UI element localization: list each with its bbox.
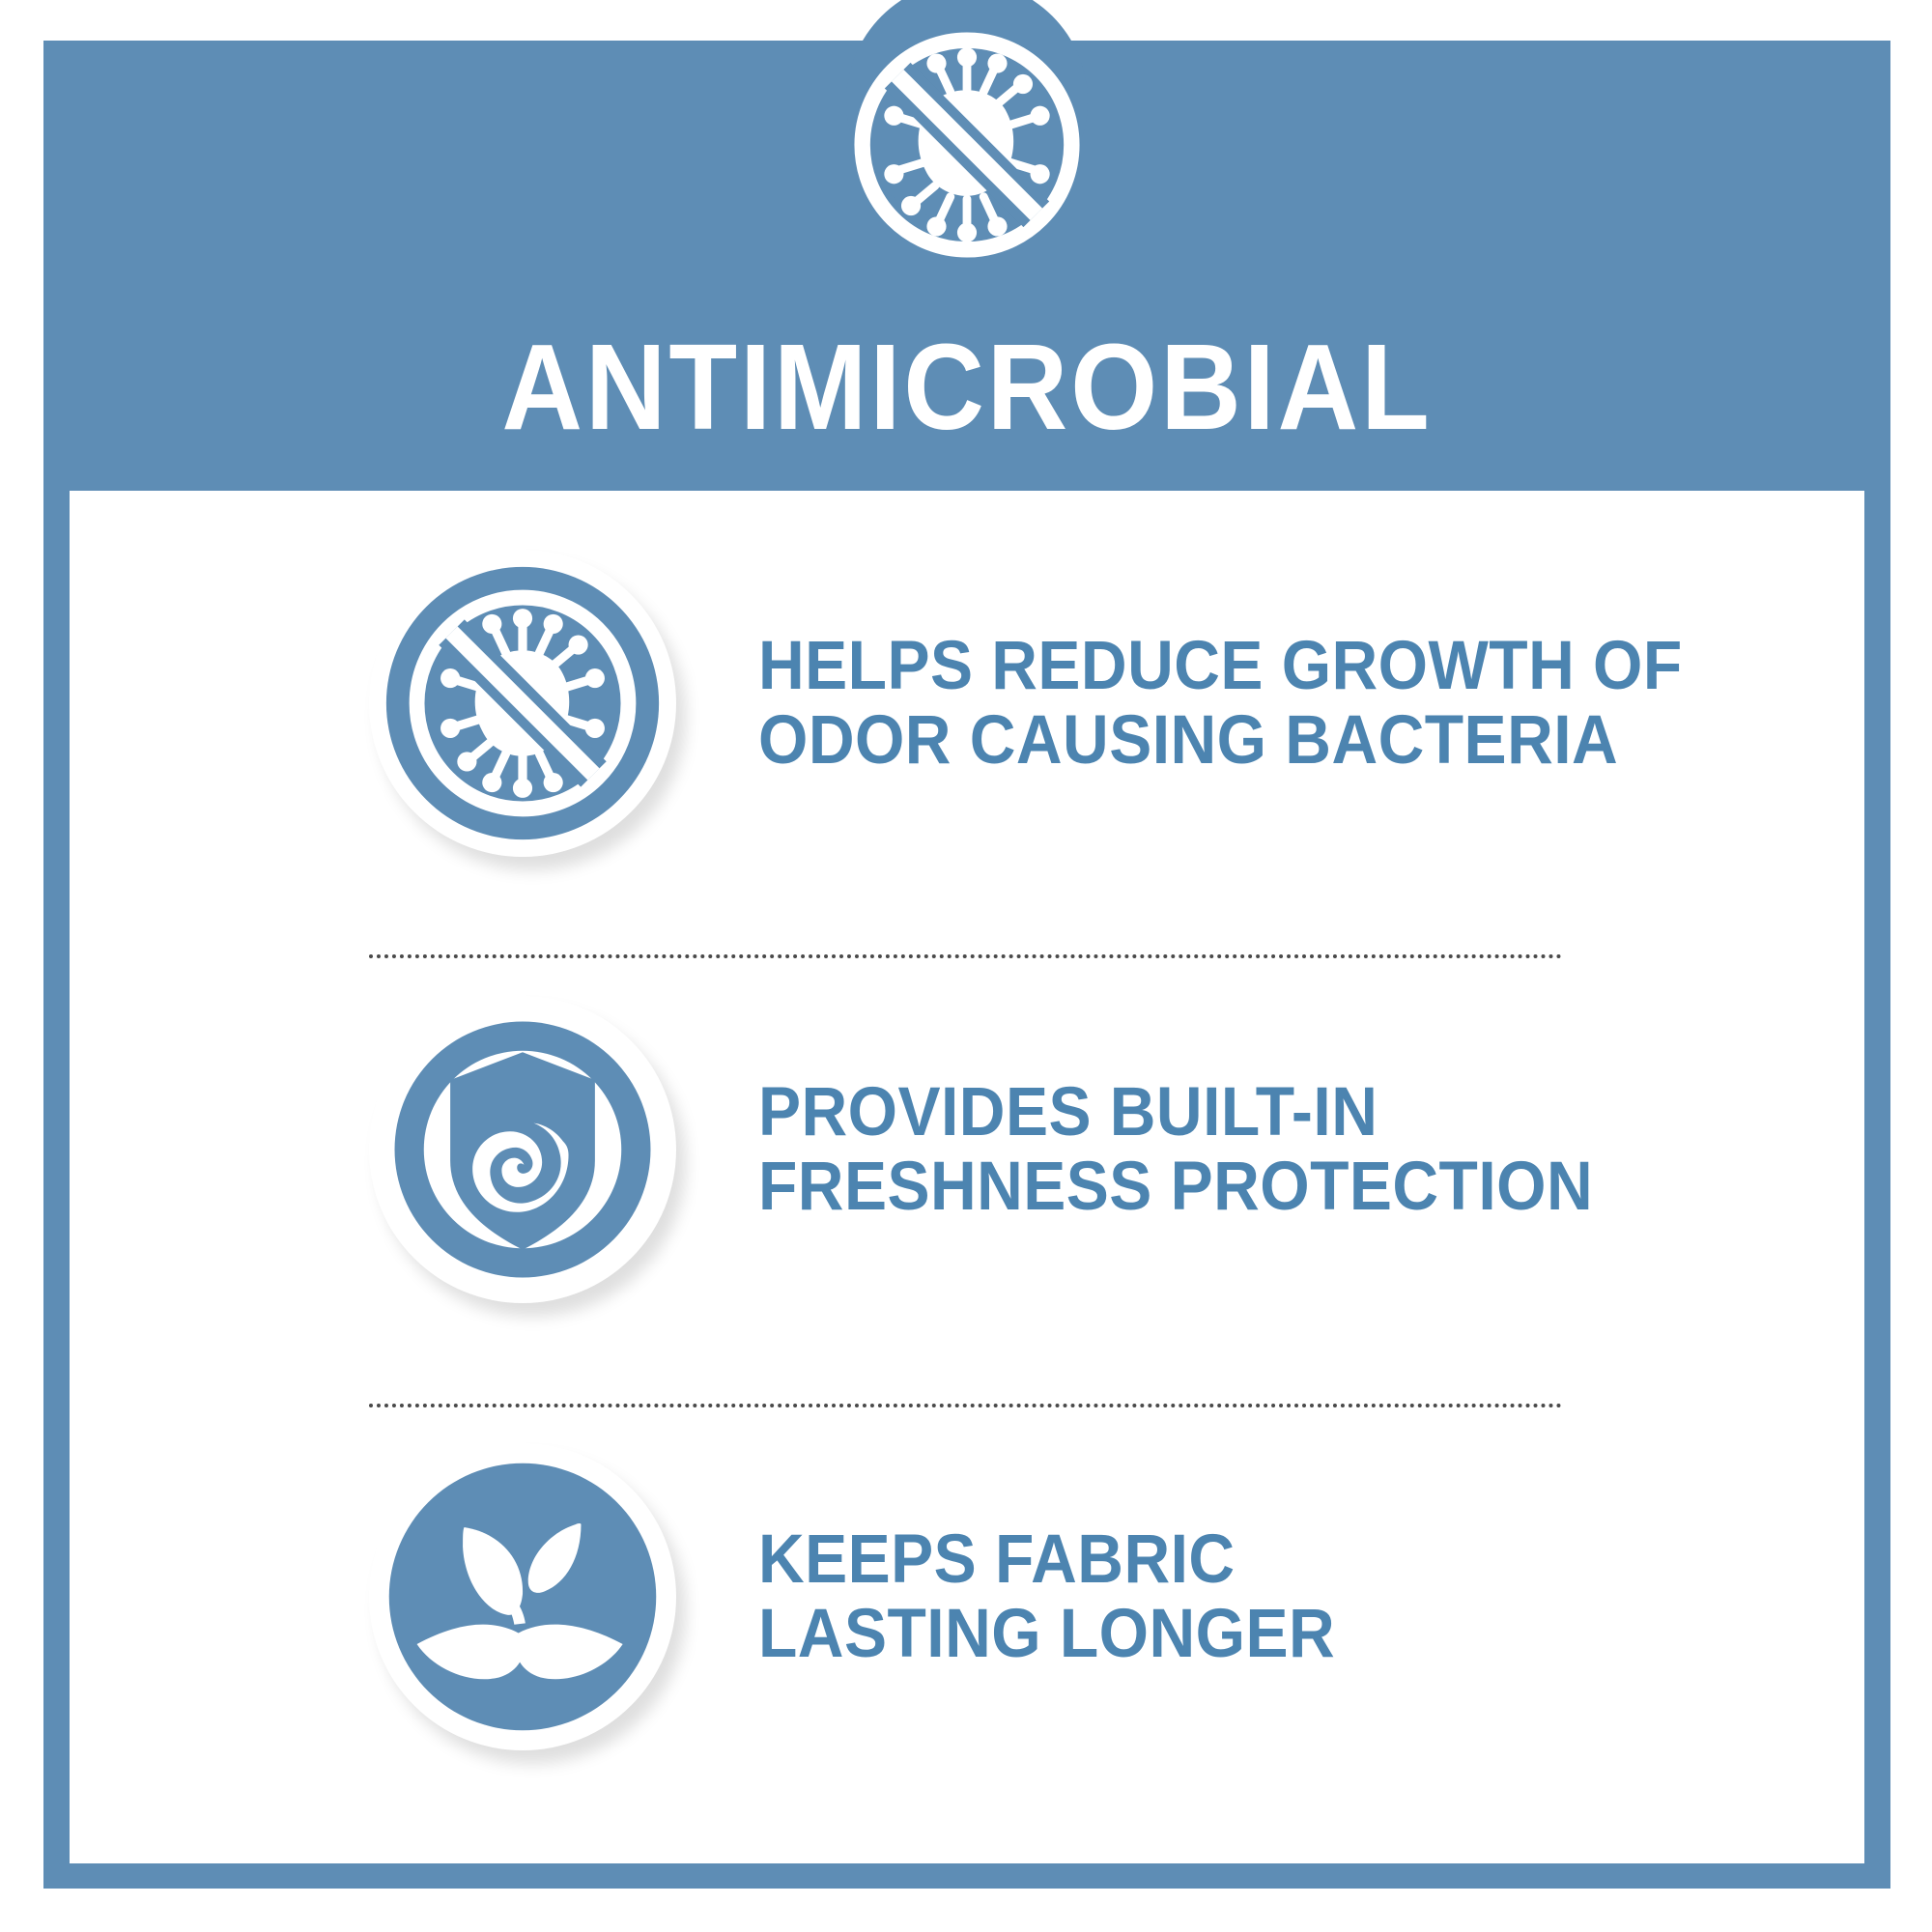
list-item: HELPS REDUCE GROWTH OF ODOR CAUSING BACT… xyxy=(70,510,1864,896)
feature-label: HELPS REDUCE GROWTH OF ODOR CAUSING BACT… xyxy=(758,629,1787,779)
infographic-canvas: ANTIMICROBIAL xyxy=(0,0,1932,1932)
feature-list: HELPS REDUCE GROWTH OF ODOR CAUSING BACT… xyxy=(70,491,1864,1863)
feature-label: KEEPS FABRIC LASTING LONGER xyxy=(758,1522,1787,1672)
header: ANTIMICROBIAL xyxy=(43,41,1890,491)
shield-swirl-icon xyxy=(369,996,676,1303)
no-germ-icon xyxy=(845,23,1089,267)
list-item: KEEPS FABRIC LASTING LONGER xyxy=(70,1404,1864,1790)
list-item: PROVIDES BUILT-IN FRESHNESS PROTECTION xyxy=(70,956,1864,1343)
leaf-sprout-icon xyxy=(369,1443,676,1750)
page-title: ANTIMICROBIAL xyxy=(117,327,1816,448)
feature-label: PROVIDES BUILT-IN FRESHNESS PROTECTION xyxy=(758,1075,1787,1225)
no-germ-icon xyxy=(369,550,676,857)
